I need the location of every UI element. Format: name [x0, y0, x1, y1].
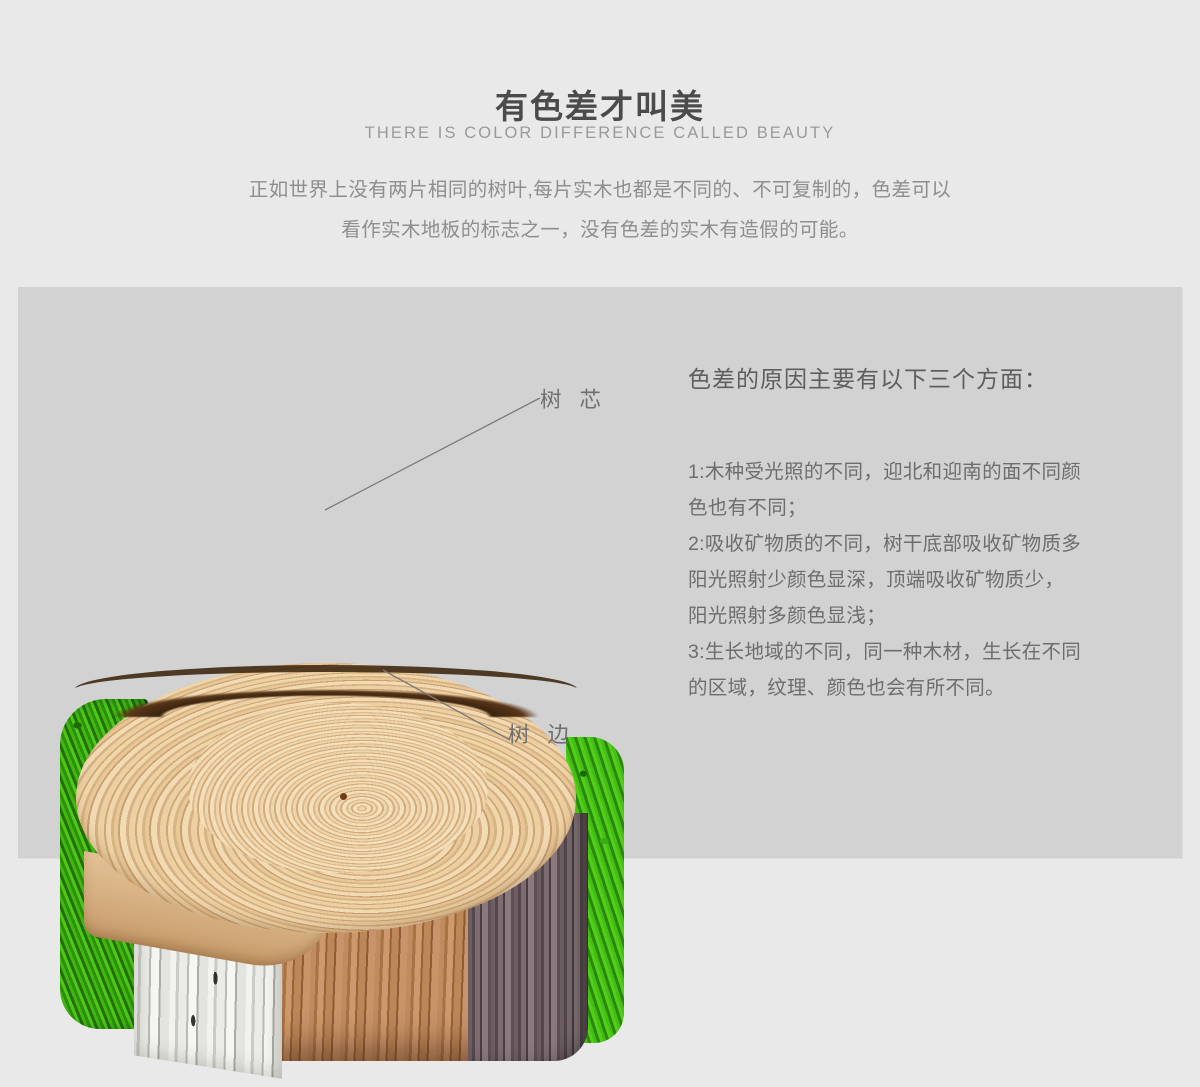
callout-label-tree-edge: 树 边: [508, 718, 575, 749]
inner-growth-rings: [188, 703, 488, 873]
intro-paragraph: 正如世界上没有两片相同的树叶,每片实木也都是不同的、不可复制的，色差可以 看作实…: [160, 170, 1040, 250]
page-subtitle: THERE IS COLOR DIFFERENCE CALLED BEAUTY: [0, 120, 1200, 146]
leader-line-tree-core: [325, 398, 540, 510]
wood-stump-illustration: [38, 617, 658, 1087]
content-panel: 树 芯 树 边 色差的原因主要有以下三个方面： 1:木种受光照的不同，迎北和迎南…: [18, 287, 1182, 858]
reasons-body: 1:木种受光照的不同，迎北和迎南的面不同颜 色也有不同； 2:吸收矿物质的不同，…: [688, 454, 1170, 706]
reason-line: 阳光照射少颜色显深，顶端吸收矿物质少，: [688, 562, 1170, 598]
reason-line: 色也有不同；: [688, 490, 1170, 526]
reason-line: 的区域，纹理、颜色也会有所不同。: [688, 670, 1170, 706]
page-header: 有色差才叫美 THERE IS COLOR DIFFERENCE CALLED …: [0, 0, 1200, 278]
reason-line: 1:木种受光照的不同，迎北和迎南的面不同颜: [688, 454, 1170, 490]
color-difference-reasons: 色差的原因主要有以下三个方面： 1:木种受光照的不同，迎北和迎南的面不同颜 色也…: [670, 362, 1170, 706]
intro-line: 看作实木地板的标志之一，没有色差的实木有造假的可能。: [160, 210, 1040, 250]
reason-line: 阳光照射多颜色显浅；: [688, 598, 1170, 634]
pith-center-dot: [340, 793, 347, 800]
reason-line: 3:生长地域的不同，同一种木材，生长在不同: [688, 634, 1170, 670]
intro-line: 正如世界上没有两片相同的树叶,每片实木也都是不同的、不可复制的，色差可以: [160, 170, 1040, 210]
reason-line: 2:吸收矿物质的不同，树干底部吸收矿物质多: [688, 526, 1170, 562]
reasons-heading: 色差的原因主要有以下三个方面：: [688, 362, 1170, 396]
callout-label-tree-core: 树 芯: [540, 383, 607, 414]
